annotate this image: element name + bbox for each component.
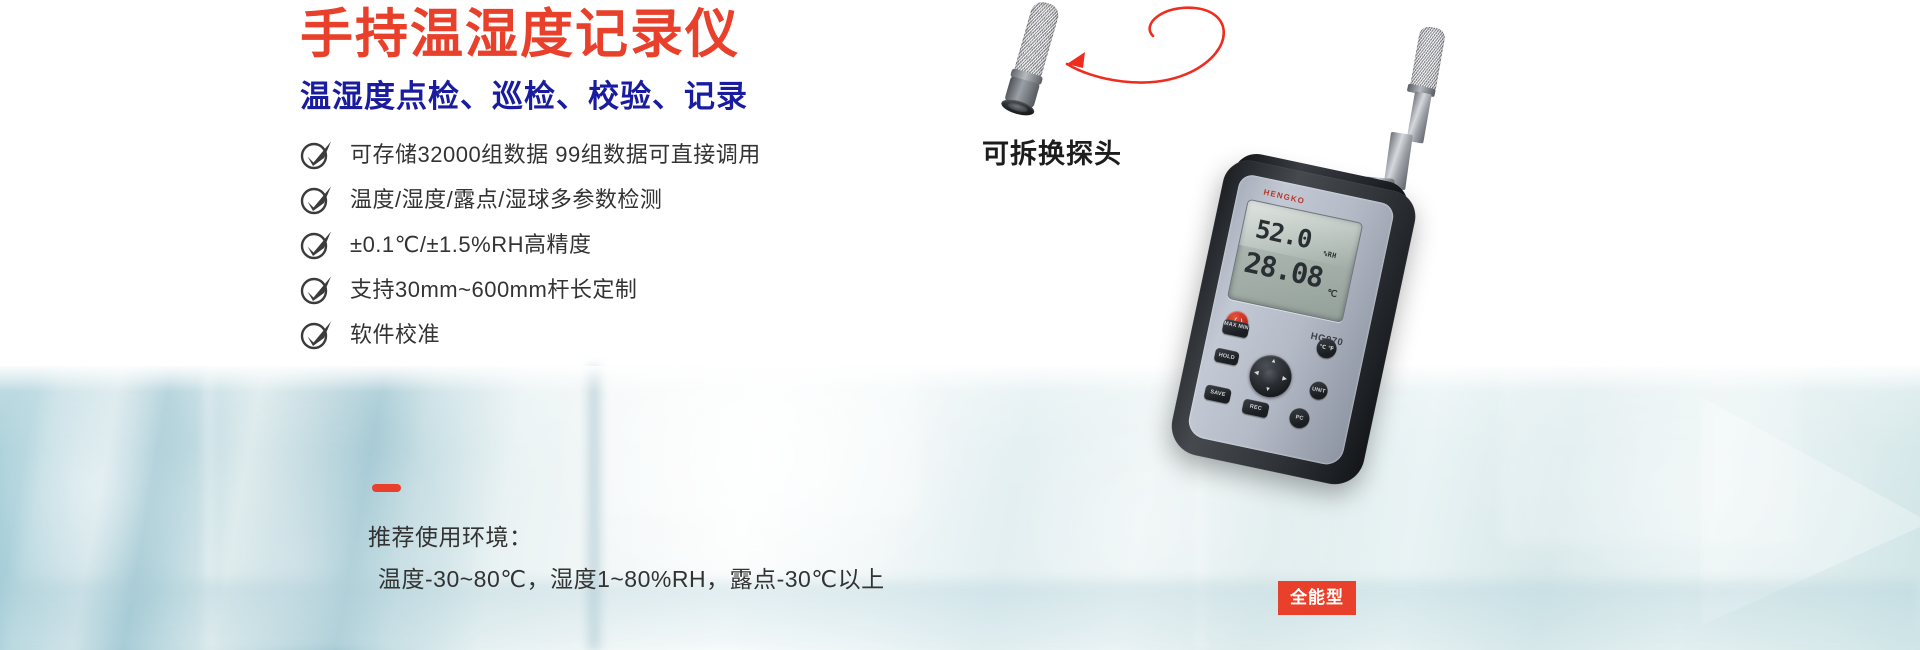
product-banner: 手持温湿度记录仪 温湿度点检、巡检、校验、记录 可存储32000组数据 99组数…: [0, 0, 1920, 650]
list-item: 软件校准: [300, 312, 761, 357]
circle-check-icon: [300, 275, 338, 305]
usage-note-line-2: 温度-30~80℃，湿度1~80%RH，露点-30℃以上: [368, 558, 885, 600]
key-hold-center[interactable]: [1261, 367, 1280, 386]
usage-note-line-1: 推荐使用环境：: [368, 516, 885, 558]
key-label: UNIT: [1311, 386, 1326, 395]
key-hold[interactable]: HOLD: [1213, 347, 1239, 366]
bottom-background-photo: [0, 366, 1920, 650]
feature-text: 温度/湿度/露点/湿球多参数检测: [350, 185, 662, 215]
feature-text: 软件校准: [350, 320, 440, 350]
feature-text: 支持30mm~600mm杆长定制: [350, 275, 637, 305]
circle-check-icon: [300, 140, 338, 170]
usage-note: 推荐使用环境： 温度-30~80℃，湿度1~80%RH，露点-30℃以上: [368, 516, 885, 600]
feature-text: 可存储32000组数据 99组数据可直接调用: [350, 140, 761, 170]
key-max-min[interactable]: MAX MIN: [1221, 318, 1250, 338]
list-item: 可存储32000组数据 99组数据可直接调用: [300, 132, 761, 177]
key-label: REC: [1249, 404, 1262, 412]
key-label: HOLD: [1218, 352, 1235, 361]
status-badge: 全能型: [1278, 581, 1356, 615]
subtitle: 温湿度点检、巡检、校验、记录: [300, 78, 748, 116]
bg-floor-band: [0, 581, 1920, 650]
key-hold-dial[interactable]: ▲ ▼ ◀ ▶: [1246, 351, 1296, 401]
key-unit-c-f[interactable]: ℃ ℉: [1315, 336, 1339, 360]
key-label: ℃ ℉: [1319, 344, 1335, 353]
circle-check-icon: [300, 320, 338, 350]
top-background: [0, 0, 1920, 366]
key-save[interactable]: SAVE: [1203, 384, 1232, 404]
product-device: HENGKO 52.0 %RH 28.08 ℃ HG970 MAX MIN ℃ …: [1098, 0, 1528, 650]
key-label: SAVE: [1210, 389, 1226, 398]
key-label: MAX MIN: [1223, 320, 1249, 331]
list-item: ±0.1℃/±1.5%RH高精度: [300, 222, 761, 267]
red-divider-dash: [372, 484, 401, 492]
key-pc[interactable]: PC: [1288, 406, 1312, 430]
feature-text: ±0.1℃/±1.5%RH高精度: [350, 230, 591, 260]
feature-list: 可存储32000组数据 99组数据可直接调用 温度/湿度/露点/湿球多参数检测 …: [300, 132, 761, 357]
section-fade: [0, 366, 1920, 392]
circle-check-icon: [300, 230, 338, 260]
key-unit[interactable]: UNIT: [1308, 380, 1329, 401]
page-title: 手持温湿度记录仪: [300, 6, 740, 64]
list-item: 支持30mm~600mm杆长定制: [300, 267, 761, 312]
circle-check-icon: [300, 185, 338, 215]
list-item: 温度/湿度/露点/湿球多参数检测: [300, 177, 761, 222]
key-label: PC: [1295, 414, 1304, 422]
key-rec[interactable]: REC: [1241, 398, 1270, 418]
lcd-temperature-unit: ℃: [1326, 288, 1338, 300]
probe-tip-sintered: [1410, 25, 1446, 91]
